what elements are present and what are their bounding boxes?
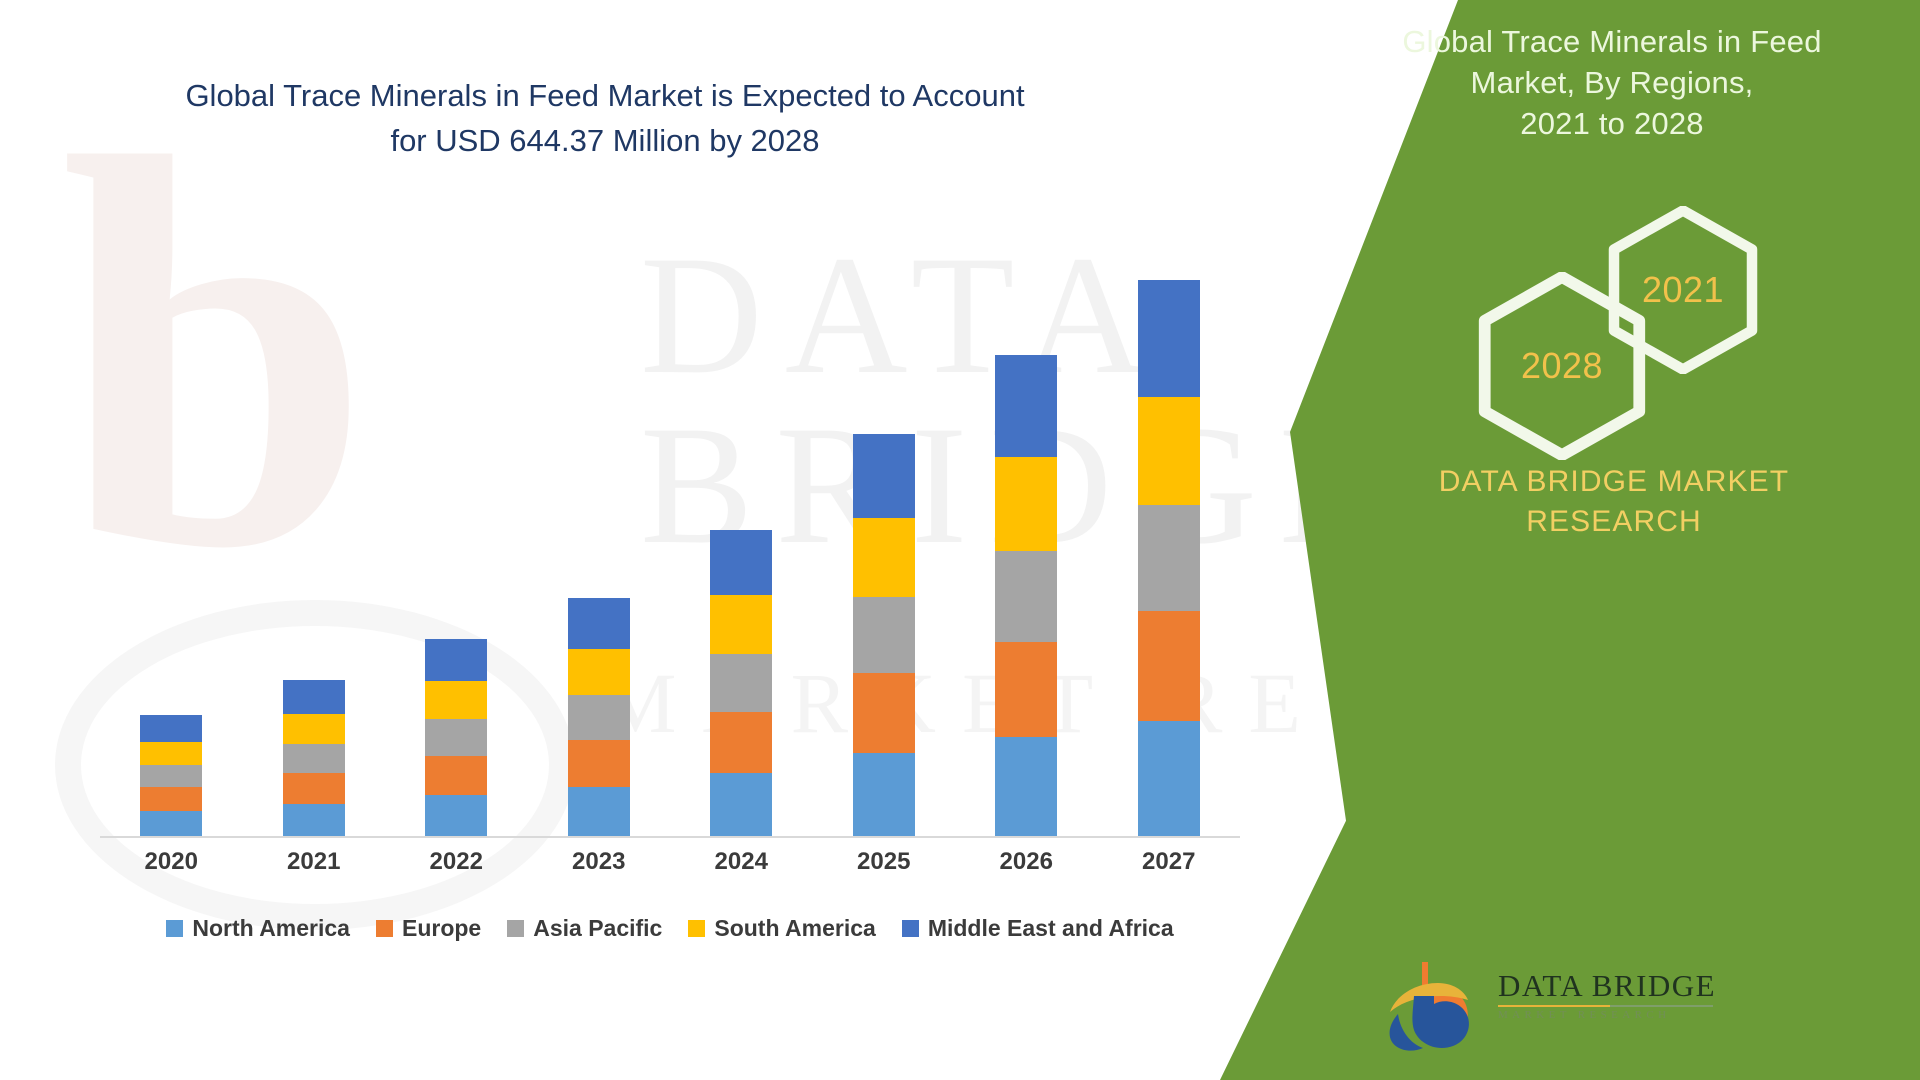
bar-segment[interactable] bbox=[853, 753, 915, 836]
dbmr-wordmark: DATA BRIDGE bbox=[1498, 970, 1713, 1001]
hexagon-group: 2021 2028 bbox=[1420, 200, 1820, 430]
stacked-bar[interactable] bbox=[1138, 280, 1200, 836]
dbmr-tagline: MARKET RESEARCH bbox=[1498, 1010, 1713, 1021]
x-axis-label: 2026 bbox=[964, 848, 1088, 876]
bar-segment[interactable] bbox=[995, 551, 1057, 642]
bar-segment[interactable] bbox=[1138, 505, 1200, 610]
bar-segment[interactable] bbox=[425, 681, 487, 719]
bar-segment[interactable] bbox=[283, 680, 345, 714]
bar-column-2025[interactable] bbox=[822, 434, 946, 836]
bar-segment[interactable] bbox=[1138, 721, 1200, 836]
stacked-bar[interactable] bbox=[140, 715, 202, 836]
bar-segment[interactable] bbox=[140, 742, 202, 765]
dbmr-logo: DATA BRIDGE MARKET RESEARCH bbox=[1380, 948, 1710, 1058]
bar-column-2024[interactable] bbox=[679, 530, 803, 836]
legend-item[interactable]: Middle East and Africa bbox=[902, 915, 1174, 942]
legend-item[interactable]: Europe bbox=[376, 915, 481, 942]
bar-segment[interactable] bbox=[710, 773, 772, 836]
stacked-bar[interactable] bbox=[995, 355, 1057, 836]
x-axis-labels: 20202021202220232024202520262027 bbox=[100, 848, 1240, 876]
x-axis-label: 2022 bbox=[394, 848, 518, 876]
x-axis-label: 2027 bbox=[1107, 848, 1231, 876]
x-axis-label: 2024 bbox=[679, 848, 803, 876]
bar-segment[interactable] bbox=[283, 744, 345, 773]
stacked-bar[interactable] bbox=[283, 680, 345, 836]
headline-line-1: Global Trace Minerals in Feed Market is … bbox=[60, 74, 1150, 119]
page-title: Global Trace Minerals in Feed Market is … bbox=[60, 74, 1150, 164]
hexagon-2028-label: 2028 bbox=[1521, 345, 1603, 387]
panel-title-line-2: Market, By Regions, bbox=[1352, 63, 1872, 104]
bar-segment[interactable] bbox=[425, 756, 487, 795]
bar-segment[interactable] bbox=[140, 765, 202, 787]
bar-segment[interactable] bbox=[995, 737, 1057, 836]
bar-segment[interactable] bbox=[710, 595, 772, 654]
bar-segment[interactable] bbox=[853, 434, 915, 518]
bar-column-2023[interactable] bbox=[537, 598, 661, 836]
x-axis-line bbox=[100, 836, 1240, 838]
panel-title: Global Trace Minerals in Feed Market, By… bbox=[1352, 22, 1872, 145]
bar-segment[interactable] bbox=[568, 649, 630, 695]
bar-segment[interactable] bbox=[568, 787, 630, 836]
bar-segment[interactable] bbox=[568, 695, 630, 740]
bar-segment[interactable] bbox=[995, 642, 1057, 737]
bar-segment[interactable] bbox=[140, 787, 202, 811]
bar-segment[interactable] bbox=[425, 795, 487, 836]
brand-line-1: DATA BRIDGE MARKET bbox=[1364, 462, 1864, 502]
x-axis-label: 2025 bbox=[822, 848, 946, 876]
x-axis-label: 2021 bbox=[252, 848, 376, 876]
legend-label: Europe bbox=[402, 915, 481, 942]
bar-segment[interactable] bbox=[1138, 280, 1200, 397]
bar-segment[interactable] bbox=[140, 715, 202, 742]
legend-item[interactable]: Asia Pacific bbox=[507, 915, 662, 942]
legend-swatch-icon bbox=[166, 920, 183, 937]
bar-segment[interactable] bbox=[425, 719, 487, 756]
x-axis-label: 2020 bbox=[109, 848, 233, 876]
dbmr-logo-mark-icon bbox=[1380, 956, 1490, 1052]
legend-label: North America bbox=[192, 915, 350, 942]
legend-swatch-icon bbox=[688, 920, 705, 937]
bar-segment[interactable] bbox=[1138, 397, 1200, 505]
bar-column-2020[interactable] bbox=[109, 715, 233, 836]
brand-name: DATA BRIDGE MARKET RESEARCH bbox=[1364, 462, 1864, 542]
bar-segment[interactable] bbox=[710, 712, 772, 773]
bar-segment[interactable] bbox=[853, 518, 915, 596]
bar-segment[interactable] bbox=[283, 773, 345, 804]
panel-title-line-1: Global Trace Minerals in Feed bbox=[1352, 22, 1872, 63]
stacked-bar[interactable] bbox=[568, 598, 630, 836]
bar-segment[interactable] bbox=[140, 811, 202, 836]
bar-segment[interactable] bbox=[995, 355, 1057, 457]
bar-segment[interactable] bbox=[710, 654, 772, 712]
legend-swatch-icon bbox=[902, 920, 919, 937]
legend-label: South America bbox=[714, 915, 875, 942]
bar-segment[interactable] bbox=[710, 530, 772, 594]
legend-swatch-icon bbox=[376, 920, 393, 937]
panel-title-line-3: 2021 to 2028 bbox=[1352, 104, 1872, 145]
bar-column-2022[interactable] bbox=[394, 639, 518, 836]
legend-label: Asia Pacific bbox=[533, 915, 662, 942]
bar-segment[interactable] bbox=[853, 597, 915, 673]
legend-item[interactable]: North America bbox=[166, 915, 350, 942]
headline-line-2: for USD 644.37 Million by 2028 bbox=[60, 119, 1150, 164]
stacked-bar[interactable] bbox=[853, 434, 915, 836]
legend-swatch-icon bbox=[507, 920, 524, 937]
legend-label: Middle East and Africa bbox=[928, 915, 1174, 942]
brand-line-2: RESEARCH bbox=[1364, 502, 1864, 542]
bar-column-2026[interactable] bbox=[964, 355, 1088, 836]
dbmr-logo-rule bbox=[1498, 1005, 1713, 1007]
bar-segment[interactable] bbox=[283, 714, 345, 744]
hexagon-2021-label: 2021 bbox=[1642, 269, 1724, 311]
bar-segment[interactable] bbox=[568, 598, 630, 649]
legend-item[interactable]: South America bbox=[688, 915, 875, 942]
bar-segment[interactable] bbox=[853, 673, 915, 753]
infographic-root: b DATA BRIDGE MARKET RESEARCH Global Tra… bbox=[0, 0, 1920, 1080]
bar-column-2027[interactable] bbox=[1107, 280, 1231, 836]
stacked-bar[interactable] bbox=[710, 530, 772, 836]
bar-segment[interactable] bbox=[1138, 611, 1200, 721]
chart-bars bbox=[100, 180, 1240, 836]
chart-legend: North AmericaEuropeAsia PacificSouth Ame… bbox=[100, 915, 1240, 942]
x-axis-label: 2023 bbox=[537, 848, 661, 876]
hexagon-2028: 2028 bbox=[1478, 272, 1646, 460]
bar-segment[interactable] bbox=[568, 740, 630, 787]
bar-segment[interactable] bbox=[425, 639, 487, 681]
stacked-bar[interactable] bbox=[425, 639, 487, 836]
bar-column-2021[interactable] bbox=[252, 680, 376, 836]
dbmr-logo-words: DATA BRIDGE MARKET RESEARCH bbox=[1498, 970, 1713, 1021]
bar-segment[interactable] bbox=[995, 457, 1057, 550]
bar-segment[interactable] bbox=[283, 804, 345, 836]
